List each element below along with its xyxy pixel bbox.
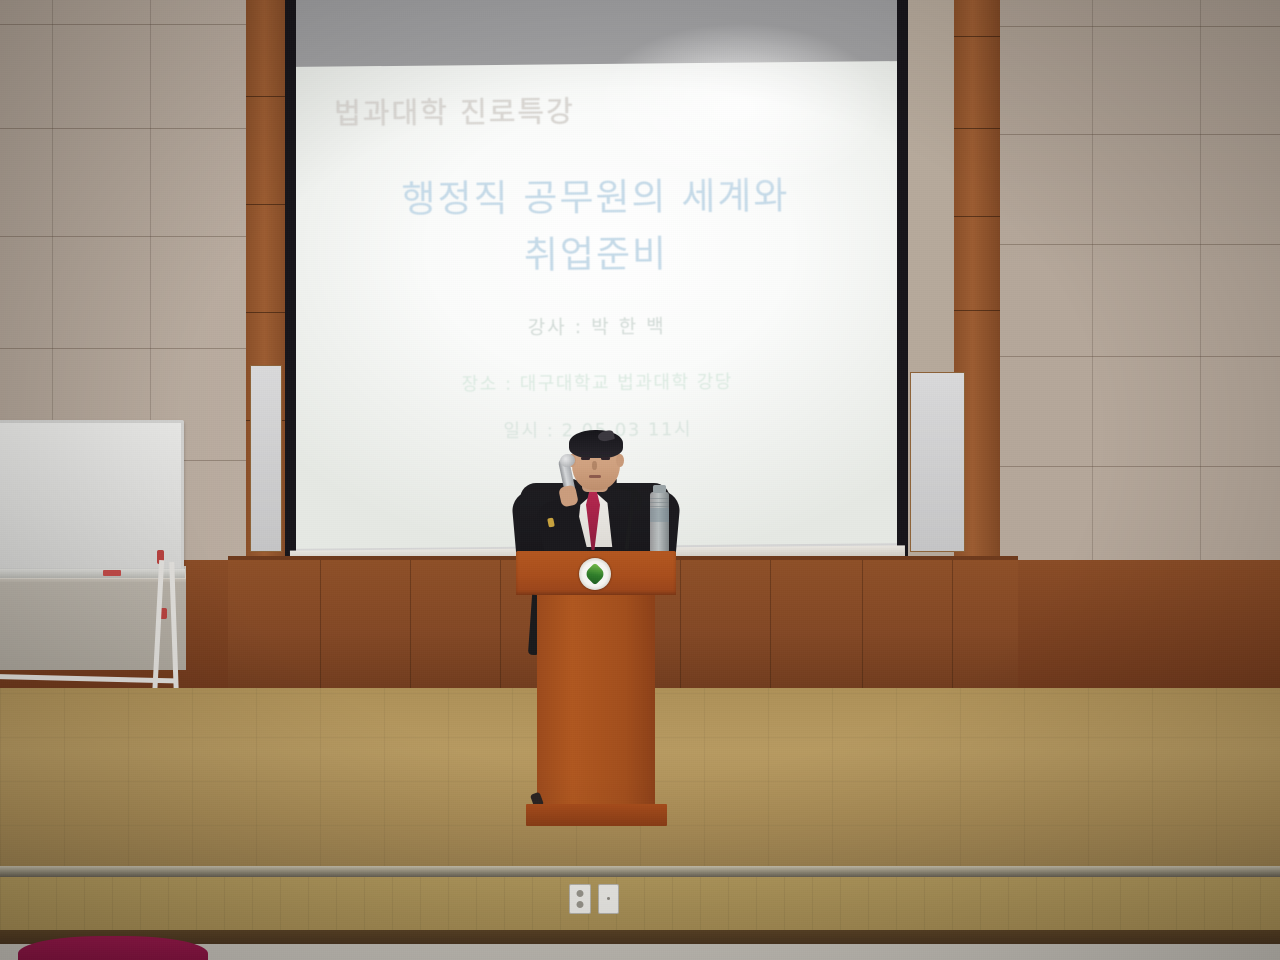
- whiteboard-surface[interactable]: [0, 420, 184, 571]
- eyebrow-left: [580, 452, 591, 454]
- bottle-cap: [653, 485, 666, 493]
- slide-header: 법과대학 진로특강: [334, 88, 575, 132]
- outlet-plate[interactable]: [569, 884, 591, 914]
- slide-venue-line: 장소 : 대구대학교 법과대학 강당: [297, 366, 897, 398]
- slide-title: 행정직 공무원의 세계와 취업준비: [296, 166, 897, 286]
- switch-plate[interactable]: [598, 884, 619, 914]
- water-bottle[interactable]: [650, 492, 669, 552]
- slide-title-line-2: 취업준비: [296, 223, 897, 286]
- lectern-body: [537, 595, 655, 804]
- whiteboard-cross-brace: [0, 674, 174, 684]
- eye-right: [601, 457, 610, 460]
- whiteboard-marker[interactable]: [103, 570, 121, 576]
- hair: [569, 430, 623, 458]
- stage-front-panel: [0, 877, 1280, 935]
- eyebrow-right: [600, 452, 611, 454]
- lectern-top: [516, 551, 676, 595]
- screen-frame-left: [285, 0, 296, 570]
- slide-title-line-1: 행정직 공무원의 세계와: [296, 166, 896, 229]
- nose: [592, 461, 597, 470]
- lectern[interactable]: [516, 551, 676, 826]
- crest-green-diamond: [584, 563, 607, 586]
- ear-right: [616, 454, 624, 467]
- mouth: [589, 475, 601, 478]
- screen-frame-right: [897, 0, 908, 570]
- slide-speaker-line: 강사 : 박 한 백: [296, 309, 897, 342]
- mobile-whiteboard[interactable]: [0, 420, 204, 730]
- wainscot-right-extension: [1018, 560, 1280, 690]
- lecture-hall-photo: 법과대학 진로특강 행정직 공무원의 세계와 취업준비 강사 : 박 한 백 장…: [0, 0, 1280, 960]
- side-whiteboard-panel-left: [250, 365, 282, 552]
- stage-edge-nosing: [0, 866, 1280, 877]
- eye-left: [581, 457, 590, 460]
- side-whiteboard-panel-right: [910, 372, 965, 552]
- audience-seat-back[interactable]: [18, 936, 208, 960]
- university-crest-icon: [579, 558, 611, 590]
- lectern-base: [526, 804, 667, 826]
- bottle-label: [650, 508, 669, 522]
- whiteboard-tray: [0, 569, 185, 578]
